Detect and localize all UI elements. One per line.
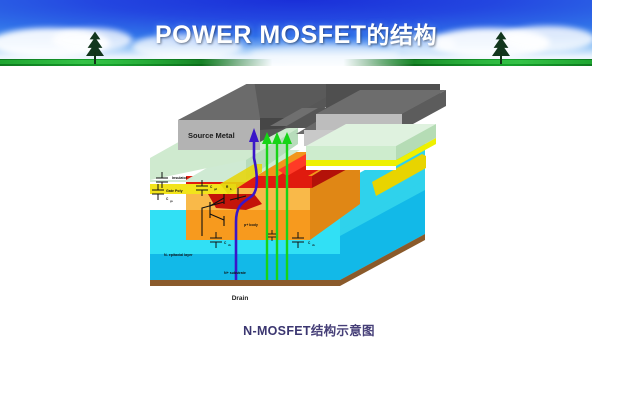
- caption-cn: 结构示意图: [311, 324, 375, 338]
- slide-header-banner: POWER MOSFET的结构: [0, 0, 592, 66]
- mosfet-cross-section-svg: R b C gs C gd C ds C ds Source Metal Ins…: [150, 84, 480, 312]
- source-metal-label: Source Metal: [188, 131, 235, 140]
- caption-en: N-MOSFET: [243, 324, 311, 338]
- page-title-cn: 的结构: [367, 22, 438, 48]
- figure-caption: N-MOSFET结构示意图: [0, 320, 618, 339]
- n-epitaxial-label: N- epitaxial layer: [164, 253, 193, 257]
- n-substrate-front-face: [150, 254, 340, 280]
- page-title-en: POWER MOSFET: [155, 21, 367, 49]
- p-body-label: p+ body: [244, 223, 258, 227]
- gate-poly-label: Gate Poly: [166, 189, 183, 193]
- insulator-label: Insulator: [172, 176, 188, 180]
- electron-arrow-heads: [262, 132, 292, 144]
- n-substrate-label: N+ substrate: [224, 271, 246, 275]
- drain-metal-bar: [150, 280, 340, 286]
- mosfet-structure-figure: R b C gs C gd C ds C ds Source Metal Ins…: [150, 84, 480, 312]
- page-title: POWER MOSFET的结构: [0, 16, 592, 50]
- drain-label: Drain: [232, 295, 249, 302]
